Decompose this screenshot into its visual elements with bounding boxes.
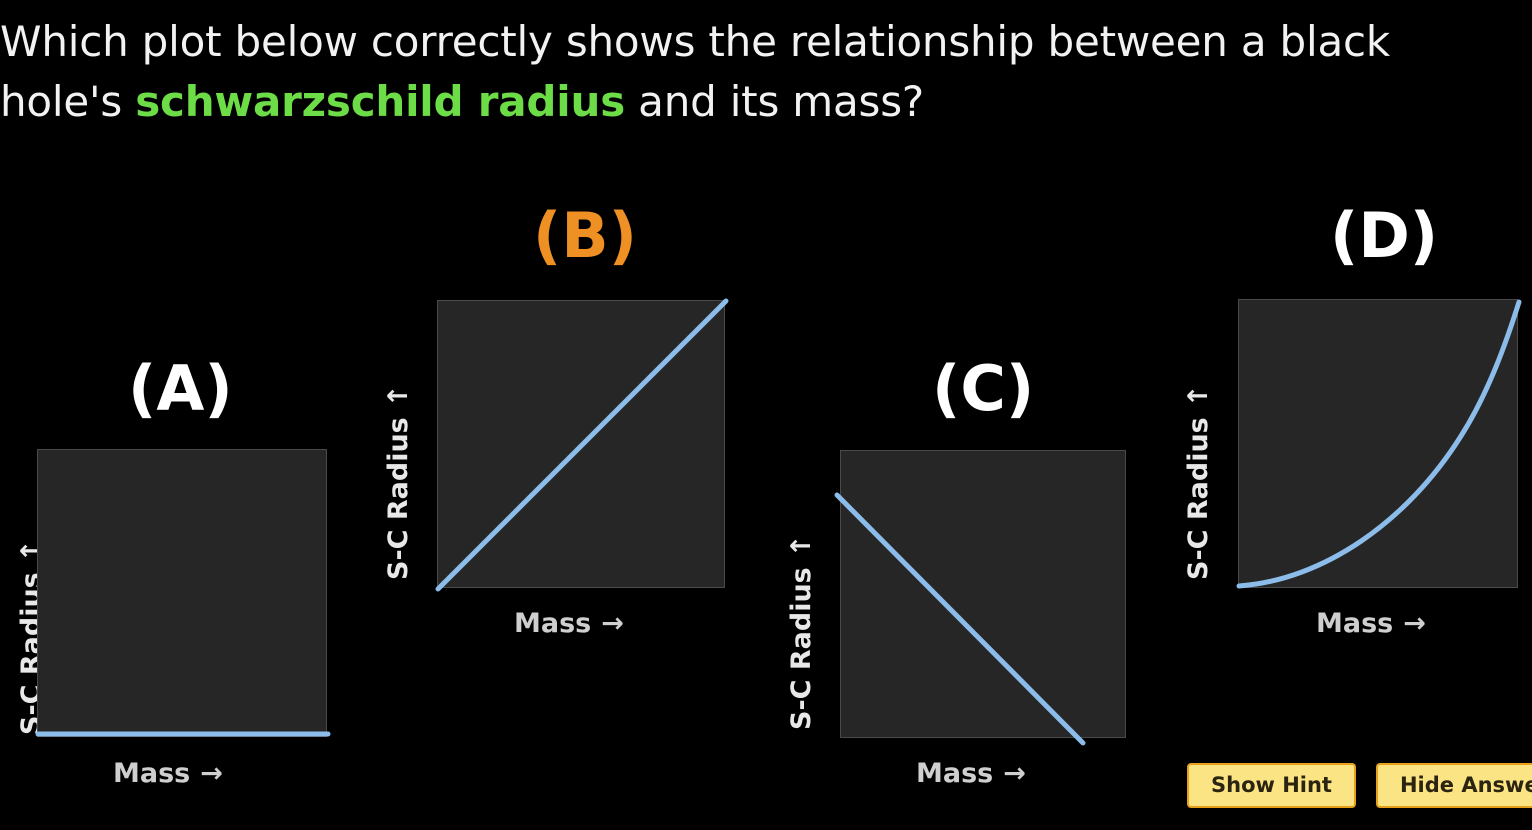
- question-prompt: Which plot below correctly shows the rel…: [0, 12, 1500, 132]
- x-axis-label-b: Mass →: [514, 610, 624, 637]
- plot-area-b: [437, 300, 725, 588]
- y-axis-label-text-c: S-C Radius: [788, 567, 815, 730]
- question-suffix: and its mass?: [625, 77, 924, 126]
- x-axis-label-text-d: Mass: [1316, 610, 1393, 637]
- x-axis-label-text-a: Mass: [113, 760, 190, 787]
- up-arrow-icon-c: ↑: [788, 535, 815, 558]
- show-hint-button[interactable]: Show Hint: [1187, 763, 1356, 808]
- action-button-group: Show Hint Hide Answer: [1187, 763, 1532, 808]
- right-arrow-icon-b: →: [601, 610, 624, 637]
- plot-label-c: (C): [932, 358, 1034, 420]
- plot-curve-c: [837, 451, 1123, 739]
- x-axis-label-c: Mass →: [916, 760, 1026, 787]
- plot-label-b: (B): [533, 205, 637, 267]
- y-axis-label-b: S-C Radius ↑: [385, 385, 412, 580]
- y-axis-label-d: S-C Radius ↑: [1185, 385, 1212, 580]
- plot-label-d: (D): [1330, 205, 1438, 267]
- up-arrow-icon-d: ↑: [1185, 385, 1212, 408]
- y-axis-label-text-b: S-C Radius: [385, 417, 412, 580]
- x-axis-label-d: Mass →: [1316, 610, 1426, 637]
- x-axis-label-text-c: Mass: [916, 760, 993, 787]
- up-arrow-icon-b: ↑: [385, 385, 412, 408]
- right-arrow-icon-d: →: [1403, 610, 1426, 637]
- plot-area-c: [840, 450, 1126, 738]
- plot-area-d: [1238, 299, 1518, 588]
- plot-label-a: (A): [128, 358, 233, 420]
- y-axis-label-c: S-C Radius ↑: [788, 535, 815, 730]
- plot-area-a: [37, 449, 327, 737]
- right-arrow-icon-c: →: [1003, 760, 1026, 787]
- x-axis-label-a: Mass →: [113, 760, 223, 787]
- x-axis-label-text-b: Mass: [514, 610, 591, 637]
- question-highlight-term: schwarzschild radius: [135, 77, 625, 126]
- right-arrow-icon-a: →: [200, 760, 223, 787]
- plot-curve-a: [38, 450, 328, 738]
- hide-answer-button[interactable]: Hide Answer: [1376, 763, 1532, 808]
- plot-curve-b: [438, 301, 726, 589]
- y-axis-label-text-d: S-C Radius: [1185, 417, 1212, 580]
- plot-curve-d: [1239, 300, 1519, 589]
